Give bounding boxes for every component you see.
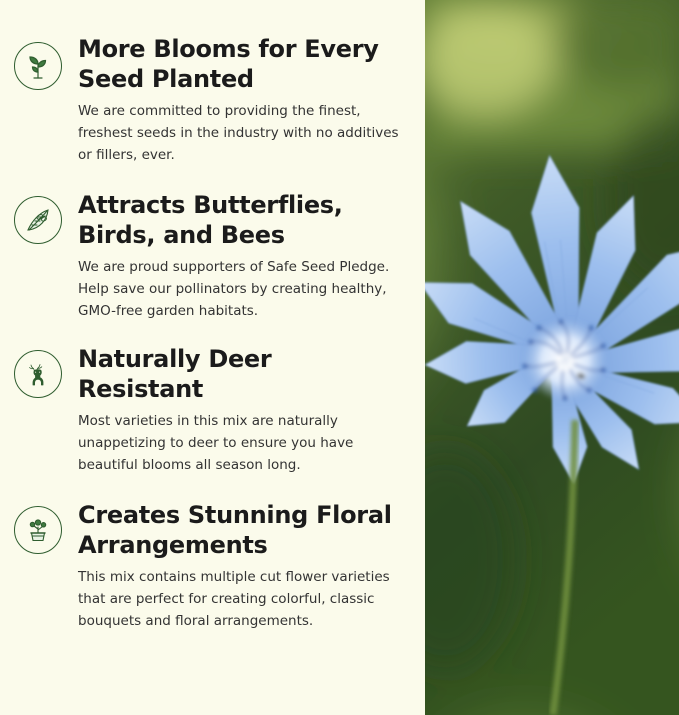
seedling-sprout-icon: [14, 42, 62, 90]
feature-text-block: Naturally Deer Resistant Most varieties …: [62, 344, 399, 476]
blue-chicory-flower-photo: [425, 0, 679, 715]
feature-title: Naturally Deer Resistant: [78, 344, 399, 404]
feature-body: Most varieties in this mix are naturally…: [78, 410, 399, 476]
feature-item-floral-arrangements: Creates Stunning Floral Arrangements Thi…: [8, 500, 399, 632]
feature-text-block: More Blooms for Every Seed Planted We ar…: [62, 34, 399, 166]
feature-text-block: Creates Stunning Floral Arrangements Thi…: [62, 500, 399, 632]
potted-flowers-icon: [14, 506, 62, 554]
feature-item-deer-resistant: Naturally Deer Resistant Most varieties …: [8, 344, 399, 476]
product-feature-panel: More Blooms for Every Seed Planted We ar…: [0, 0, 679, 715]
features-column: More Blooms for Every Seed Planted We ar…: [0, 0, 425, 715]
feature-title: More Blooms for Every Seed Planted: [78, 34, 399, 94]
feature-item-more-blooms: More Blooms for Every Seed Planted We ar…: [8, 34, 399, 166]
feature-body: We are committed to providing the finest…: [78, 100, 399, 166]
feature-item-attracts-pollinators: Attracts Butterflies, Birds, and Bees We…: [8, 190, 399, 322]
butterfly-on-leaf-icon: [14, 196, 62, 244]
deer-icon: [14, 350, 62, 398]
feature-title: Creates Stunning Floral Arrangements: [78, 500, 399, 560]
feature-title: Attracts Butterflies, Birds, and Bees: [78, 190, 399, 250]
feature-body: We are proud supporters of Safe Seed Ple…: [78, 256, 399, 322]
feature-body: This mix contains multiple cut flower va…: [78, 566, 399, 632]
feature-text-block: Attracts Butterflies, Birds, and Bees We…: [62, 190, 399, 322]
